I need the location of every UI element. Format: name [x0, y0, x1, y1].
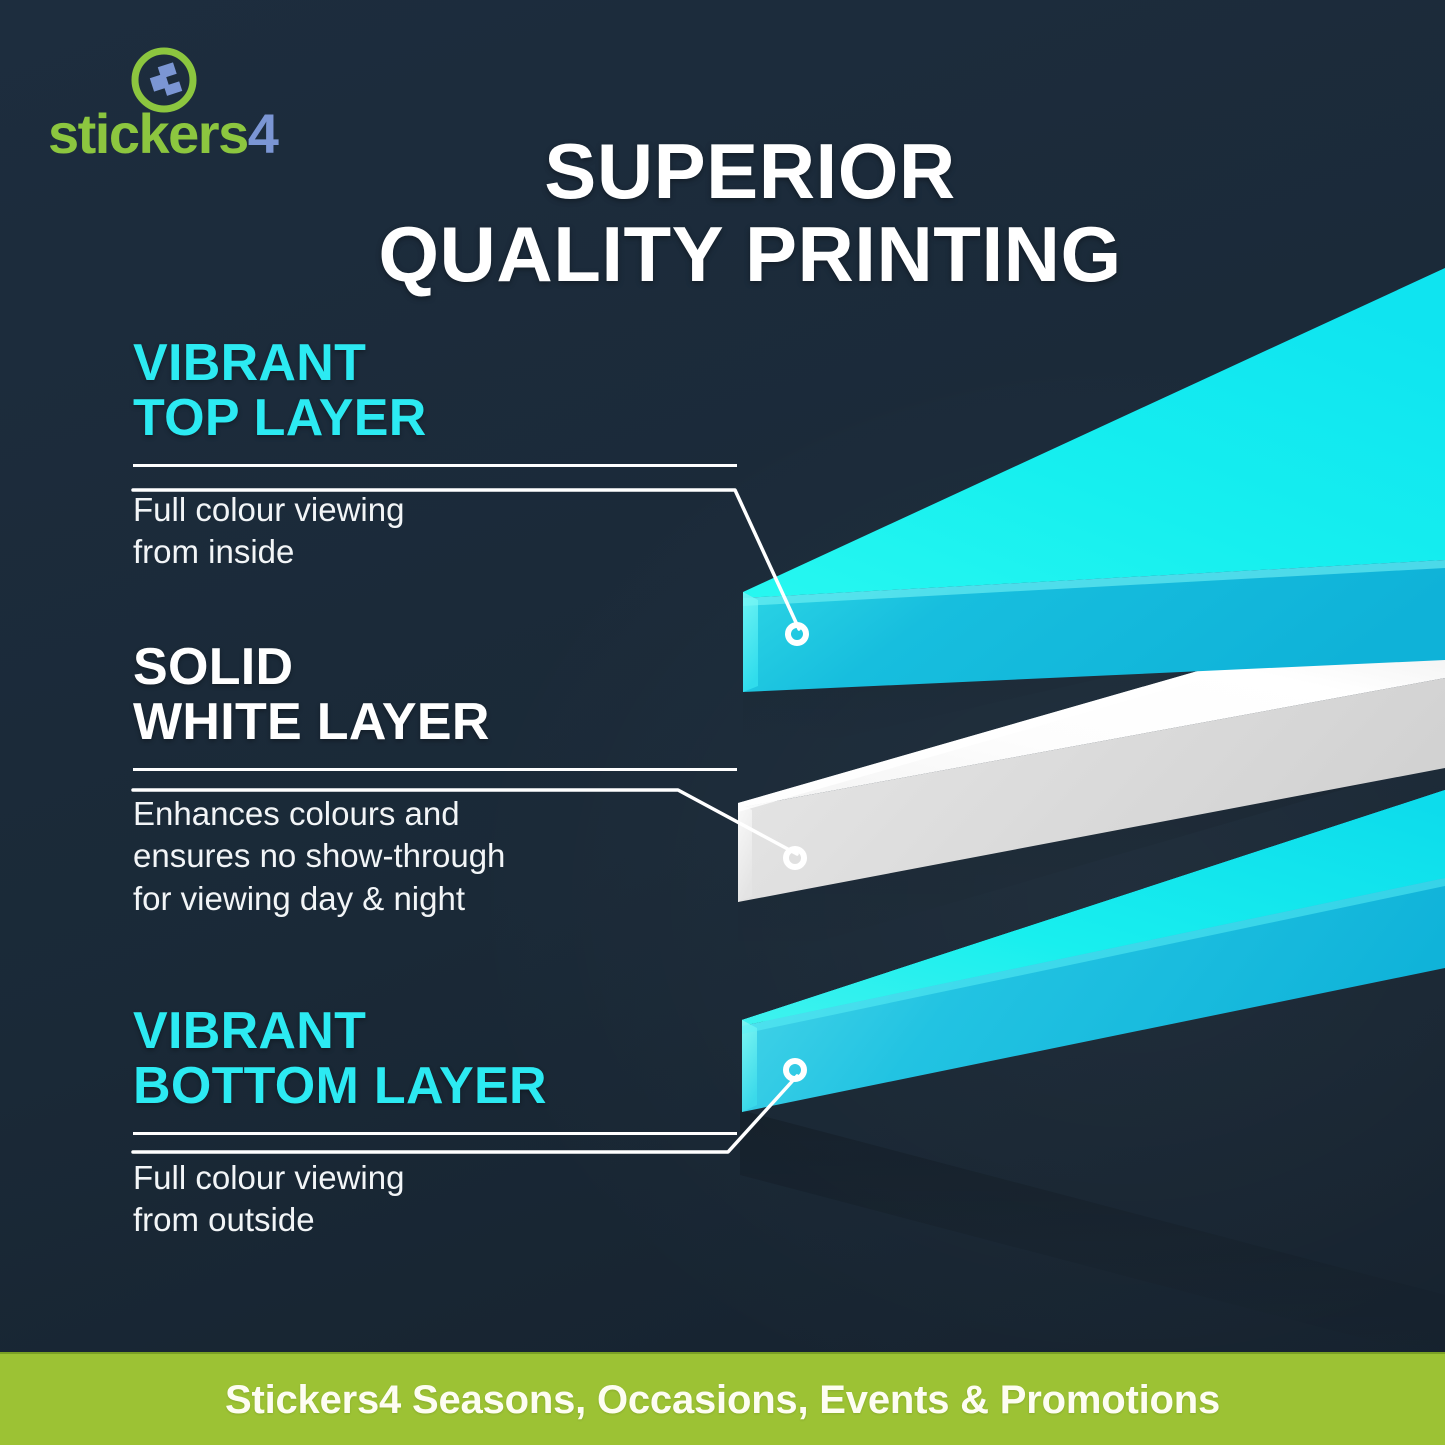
- callout-title-line-1: VIBRANT: [133, 1004, 773, 1059]
- callout-divider-white-layer: [133, 768, 737, 771]
- callout-body-line-2: ensures no show-through: [133, 835, 773, 877]
- callout-markers: [786, 625, 806, 1079]
- callout-title-line-1: VIBRANT: [133, 336, 773, 391]
- brand-wordmark: stickers4: [48, 106, 298, 162]
- callout-title-white-layer: SOLID WHITE LAYER: [133, 640, 773, 750]
- marker-white-layer: [786, 849, 804, 867]
- page-title: SUPERIOR QUALITY PRINTING: [300, 130, 1200, 297]
- marker-top-layer: [788, 625, 806, 643]
- callout-title-line-2: WHITE LAYER: [133, 695, 773, 750]
- callout-title-bottom-layer: VIBRANT BOTTOM LAYER: [133, 1004, 773, 1114]
- bottom-tagline-banner: Stickers4 Seasons, Occasions, Events & P…: [0, 1352, 1445, 1445]
- middle-white-layer-shape: [738, 600, 1445, 965]
- callout-body-white-layer: Enhances colours and ensures no show-thr…: [133, 793, 773, 920]
- callout-body-line-2: from outside: [133, 1199, 773, 1241]
- callout-block-top-layer: VIBRANT TOP LAYER Full colour viewing fr…: [133, 336, 773, 574]
- infographic-canvas: stickers4 SUPERIOR QUALITY PRINTING VIBR…: [0, 0, 1445, 1445]
- callout-block-white-layer: SOLID WHITE LAYER Enhances colours and e…: [133, 640, 773, 920]
- headline-line-2: QUALITY PRINTING: [300, 213, 1200, 296]
- callout-title-line-2: TOP LAYER: [133, 391, 773, 446]
- callout-divider-bottom-layer: [133, 1132, 737, 1135]
- callout-body-bottom-layer: Full colour viewing from outside: [133, 1157, 773, 1241]
- brand-name-green: stickers: [48, 102, 248, 165]
- callout-block-bottom-layer: VIBRANT BOTTOM LAYER Full colour viewing…: [133, 1004, 773, 1242]
- callout-body-line-1: Full colour viewing: [133, 1157, 773, 1199]
- brand-logo[interactable]: stickers4: [48, 44, 298, 164]
- callout-title-line-2: BOTTOM LAYER: [133, 1059, 773, 1114]
- bottom-cyan-layer-shape: [740, 790, 1445, 1360]
- top-cyan-layer-shape: [743, 268, 1445, 760]
- callout-body-line-1: Enhances colours and: [133, 793, 773, 835]
- callout-body-top-layer: Full colour viewing from inside: [133, 489, 773, 573]
- callout-divider-top-layer: [133, 464, 737, 467]
- callout-body-line-2: from inside: [133, 531, 773, 573]
- callout-title-line-1: SOLID: [133, 640, 773, 695]
- callout-body-line-1: Full colour viewing: [133, 489, 773, 531]
- callout-body-line-3: for viewing day & night: [133, 878, 773, 920]
- tagline-text: Stickers4 Seasons, Occasions, Events & P…: [225, 1378, 1220, 1423]
- marker-bottom-layer: [786, 1061, 804, 1079]
- headline-line-1: SUPERIOR: [300, 130, 1200, 213]
- brand-name-blue: 4: [248, 102, 278, 165]
- callout-title-top-layer: VIBRANT TOP LAYER: [133, 336, 773, 446]
